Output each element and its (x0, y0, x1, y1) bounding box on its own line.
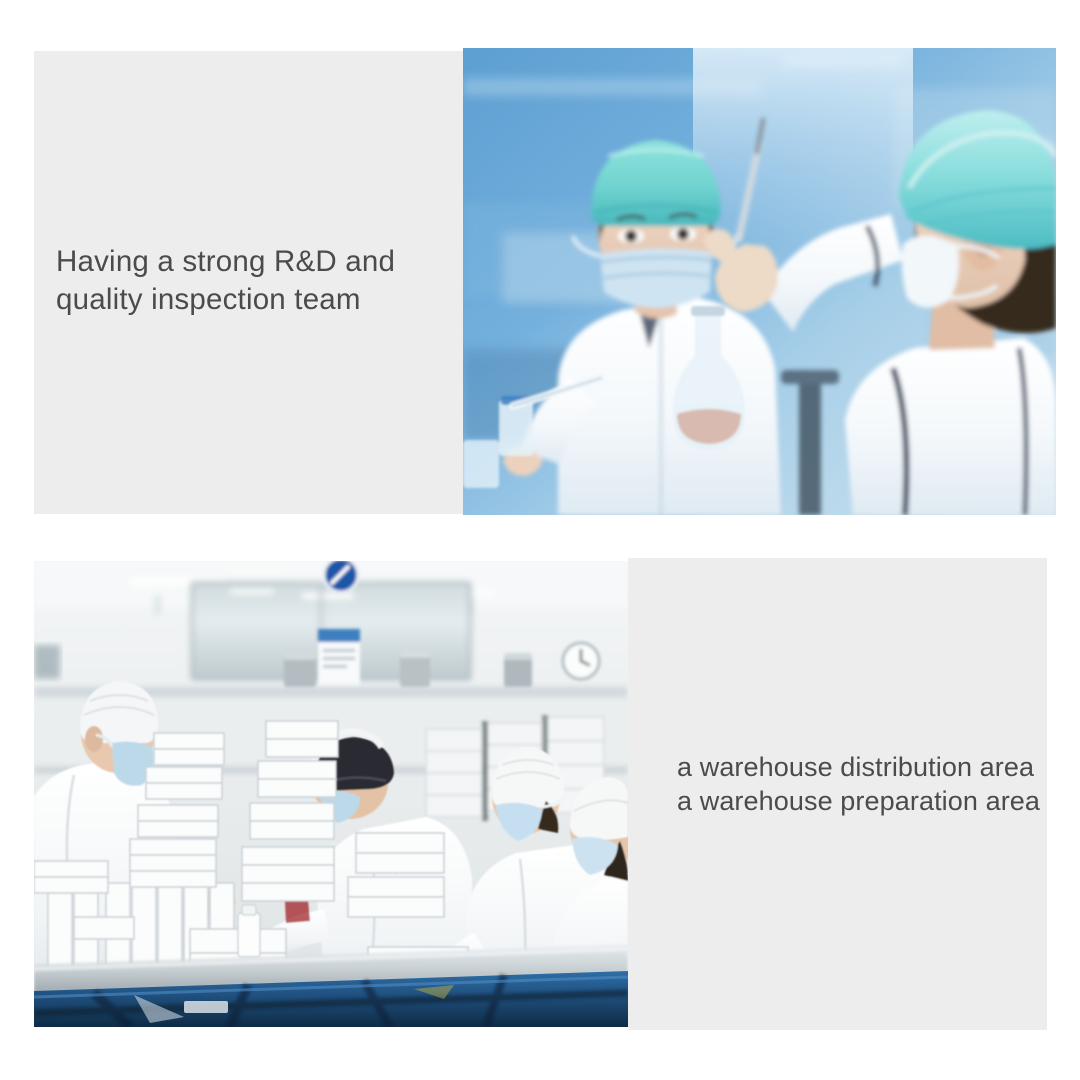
section-rd-quality: Having a strong R&D and quality inspecti… (34, 48, 1056, 517)
top-caption-text: Having a strong R&D and quality inspecti… (56, 243, 456, 319)
page-root: Having a strong R&D and quality inspecti… (0, 0, 1080, 1080)
section-warehouse: a warehouse distribution area a warehous… (34, 558, 1047, 1030)
lab-inspection-illustration (463, 48, 1056, 515)
warehouse-packing-illustration (34, 561, 628, 1027)
bottom-caption-text: a warehouse distribution area a warehous… (677, 750, 1077, 818)
warehouse-packing-photo (34, 561, 628, 1027)
top-caption-panel: Having a strong R&D and quality inspecti… (34, 51, 463, 514)
lab-inspection-photo (463, 48, 1056, 515)
bottom-caption-panel: a warehouse distribution area a warehous… (628, 558, 1047, 1030)
